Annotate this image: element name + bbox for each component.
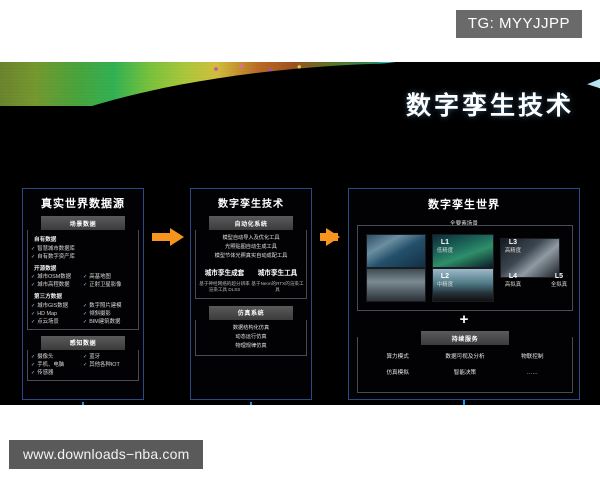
list-item: ✓自有数字资产库: [31, 253, 135, 261]
group-title-open-source-data: 开源数据: [34, 264, 135, 272]
list-item: ✓智慧城市数据库: [31, 245, 135, 253]
orange-arrow-1: [170, 228, 184, 246]
down-arrow-stem-2: [250, 402, 252, 405]
group-title-own-data: 自有数据: [34, 235, 135, 243]
panel-real-world-data-source: 真实世界数据源 场景数据 自有数据 ✓智慧城市数据库 ✓自有数字资产库 开源数据…: [22, 188, 144, 400]
simulation-line: 物理规律仿真: [198, 342, 304, 351]
panel-digital-twin-technology: 数字孪生技术 自动化系统 模型自动导入及优化工具 光照贴图自动生成工具 模型节体…: [190, 188, 312, 400]
list-item: ✓数字照片建模: [83, 302, 135, 310]
mid-button-sub-1: 基于Neon的RTX的渲染工具: [251, 281, 304, 294]
plus-icon: +: [349, 313, 579, 327]
list-item: ✓正射卫星影像: [83, 281, 135, 289]
slide-canvas: 数字孪生技术 真实世界数据源 场景数据 自有数据 ✓智慧城市数据库 ✓自有数字资…: [0, 62, 600, 405]
check-icon: ✓: [31, 254, 35, 260]
level-label-l3: L3 高精度: [498, 238, 528, 255]
thumbnail-l2-city[interactable]: [366, 268, 426, 302]
left-panel-heading: 真实世界数据源: [23, 189, 143, 211]
mid-section-simulation-label: 仿真系统: [209, 306, 293, 320]
list-item: ✓其他各种IOT: [83, 361, 135, 369]
simulation-line: 数据结构化仿真: [198, 324, 304, 333]
check-icon: ✓: [31, 311, 35, 317]
service-item: 数据可视及分析: [431, 349, 498, 365]
group-title-third-party-data: 第三方数据: [34, 292, 135, 300]
check-icon: ✓: [83, 311, 87, 317]
list-item: ✓传感器: [31, 369, 83, 377]
service-item: 仿真模拟: [364, 365, 431, 381]
check-icon: ✓: [83, 282, 87, 288]
scene-gallery-box: L1 低精度 L2 中精度 L3 高精度 L4 高拟真 L5 全拟真: [357, 225, 573, 311]
list-item: ✓HD Map: [31, 310, 83, 318]
down-arrow-stem-1: [82, 402, 84, 405]
check-icon: ✓: [31, 282, 35, 288]
check-icon: ✓: [83, 362, 87, 368]
check-icon: ✓: [31, 303, 35, 309]
left-section-sensing-data-label: 感知数据: [41, 336, 125, 350]
list-item: ✓点云场景: [31, 318, 83, 326]
panel-digital-twin-world: 数字孪生世界 全要素场景 L1 低精度 L2 中精度 L3 高精度: [348, 188, 580, 400]
list-item: ✓城市OSM数据: [31, 273, 83, 281]
list-item: ✓BIM建筑数据: [83, 318, 135, 326]
right-panel-heading: 数字孪生世界: [349, 189, 579, 212]
automation-line: 模型节体光照真实自动成配工具: [198, 252, 304, 261]
service-box: 算力模式 数据可视及分析 物联控制 仿真模拟 智能决策 ……: [357, 337, 573, 393]
check-icon: ✓: [31, 362, 35, 368]
check-icon: ✓: [83, 274, 87, 280]
simulation-line: 动态运行仿真: [198, 333, 304, 342]
level-label-l4: L4 高拟真: [498, 272, 528, 289]
check-icon: ✓: [83, 303, 87, 309]
check-icon: ✓: [83, 319, 87, 325]
automation-line: 光照贴图自动生成工具: [198, 243, 304, 252]
service-item: ……: [499, 365, 566, 381]
check-icon: ✓: [83, 354, 87, 360]
level-label-l5: L5 全拟真: [544, 272, 574, 289]
automation-line: 模型自动导入及优化工具: [198, 234, 304, 243]
orange-arrow-2: [326, 228, 340, 246]
left-section-scene-data-label: 场景数据: [41, 216, 125, 230]
service-item: 物联控制: [499, 349, 566, 365]
slide-title: 数字孪生技术: [406, 86, 574, 122]
level-label-l1: L1 低精度: [430, 238, 460, 255]
mid-section-automation-label: 自动化系统: [209, 216, 293, 230]
check-icon: ✓: [31, 370, 35, 376]
list-item: ✓城市GIS数据: [31, 302, 83, 310]
service-item: 算力模式: [364, 349, 431, 365]
down-arrow-stem-3: [463, 400, 465, 405]
check-icon: ✓: [31, 319, 35, 325]
tg-watermark-badge: TG: MYYJJPP: [456, 10, 582, 38]
list-item: ✓摄像头: [31, 353, 83, 361]
list-item: ✓高基地图: [83, 273, 135, 281]
mid-button-sub-0: 基于神经网络的超分辨率渲染工具 DLSS: [198, 281, 251, 294]
site-watermark-badge: www.downloads−nba.com: [9, 440, 203, 469]
check-icon: ✓: [31, 354, 35, 360]
list-item: ✓手机、电脑: [31, 361, 83, 369]
list-item: ✓倾斜摄影: [83, 310, 135, 318]
check-icon: ✓: [31, 246, 35, 252]
list-item: ✓城市高程数据: [31, 281, 83, 289]
list-item: ✓蓝牙: [83, 353, 135, 361]
thumbnail-l1-aerial[interactable]: [366, 234, 426, 268]
mid-button-city-twin-suite[interactable]: 城市孪生成套: [198, 267, 251, 277]
mid-panel-heading: 数字孪生技术: [191, 189, 311, 210]
check-icon: ✓: [31, 274, 35, 280]
mid-button-city-twin-tools[interactable]: 城市孪生工具: [251, 267, 304, 277]
level-label-l2: L2 中精度: [430, 272, 460, 289]
orange-arrow-stem-1: [152, 233, 170, 241]
service-item: 智能决策: [431, 365, 498, 381]
